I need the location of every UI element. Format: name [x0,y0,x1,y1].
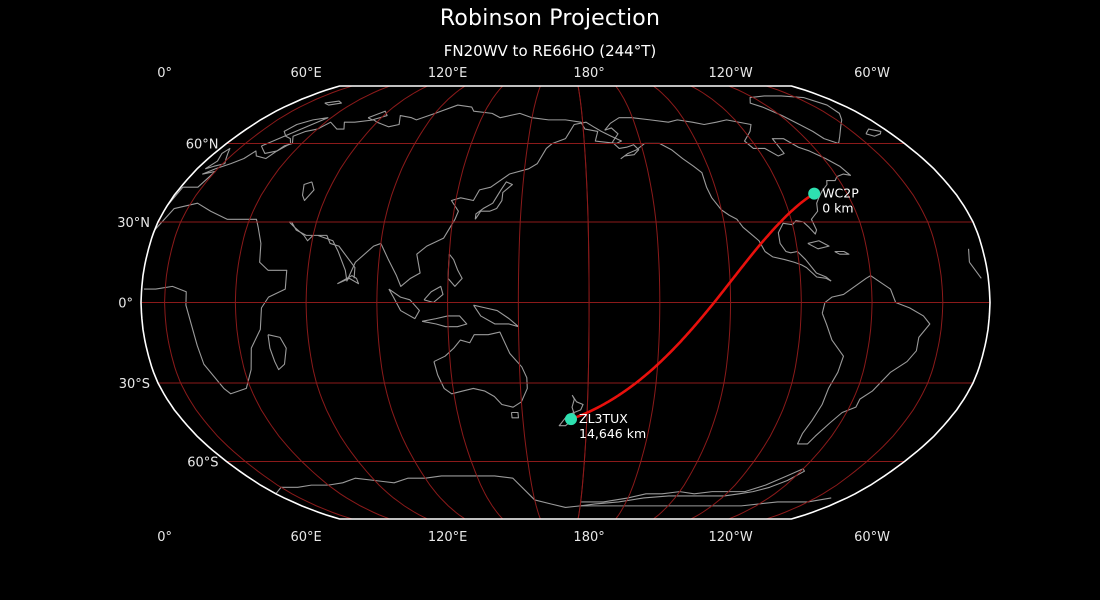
graticule-layer [141,86,990,519]
marker-wc2p[interactable]: WC2P0 km [808,186,859,216]
lon-label-bottom-1: 120°E [428,530,468,545]
map-figure: Robinson Projection FN20WV to RE66HO (24… [0,0,1100,600]
lon-label-top-4: 60°W [854,66,890,81]
marker-wc2p-dot[interactable] [808,188,820,200]
lat-label-4: 60°S [187,456,218,471]
lon-label-bottom-4: 60°W [854,530,890,545]
lon-label-top-5: 0° [157,66,172,81]
lat-label-1: 30°N [117,216,150,231]
lat-label-2: 0° [118,297,133,312]
lon-label-bottom-5: 0° [157,530,172,545]
marker-wc2p-callsign: WC2P [822,186,859,201]
marker-zl3tux-distance: 14,646 km [579,426,646,441]
lon-label-bottom-2: 180° [573,530,604,545]
lat-label-3: 30°S [119,377,150,392]
lon-label-top-2: 180° [573,66,604,81]
marker-wc2p-distance: 0 km [822,201,853,216]
marker-zl3tux-callsign: ZL3TUX [579,411,628,426]
marker-zl3tux-dot[interactable] [565,413,577,425]
map-canvas: WC2P0 kmZL3TUX14,646 km 60°E60°E120°E120… [0,0,1100,600]
great-circle-path [571,194,814,420]
coastlines-layer [144,96,981,508]
lon-label-top-1: 120°E [428,66,468,81]
lon-label-bottom-3: 120°W [709,530,753,545]
lat-label-0: 60°N [186,138,219,153]
lon-label-top-0: 60°E [290,66,321,81]
lon-label-bottom-0: 60°E [290,530,321,545]
lon-label-top-3: 120°W [709,66,753,81]
markers-layer[interactable]: WC2P0 kmZL3TUX14,646 km [565,186,859,442]
